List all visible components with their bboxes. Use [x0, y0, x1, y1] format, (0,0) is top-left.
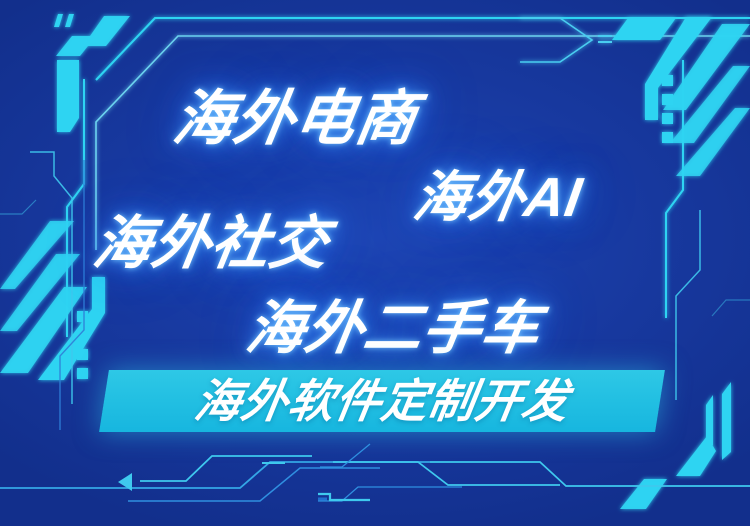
- headline-stack: 海外电商 海外AI 海外社交 海外二手车: [0, 0, 750, 526]
- headline-overseas-ai: 海外AI: [409, 152, 589, 232]
- headline-overseas-social: 海外社交: [88, 196, 336, 280]
- cta-banner-label: 海外软件定制开发: [192, 378, 573, 424]
- poster-canvas: 海外电商 海外AI 海外社交 海外二手车 海外软件定制开发: [0, 0, 750, 526]
- cta-banner[interactable]: 海外软件定制开发: [99, 370, 665, 432]
- headline-overseas-used-car: 海外二手车: [241, 281, 547, 365]
- cta-banner-inner: 海外软件定制开发: [99, 370, 665, 432]
- headline-overseas-ecommerce: 海外电商: [168, 70, 424, 157]
